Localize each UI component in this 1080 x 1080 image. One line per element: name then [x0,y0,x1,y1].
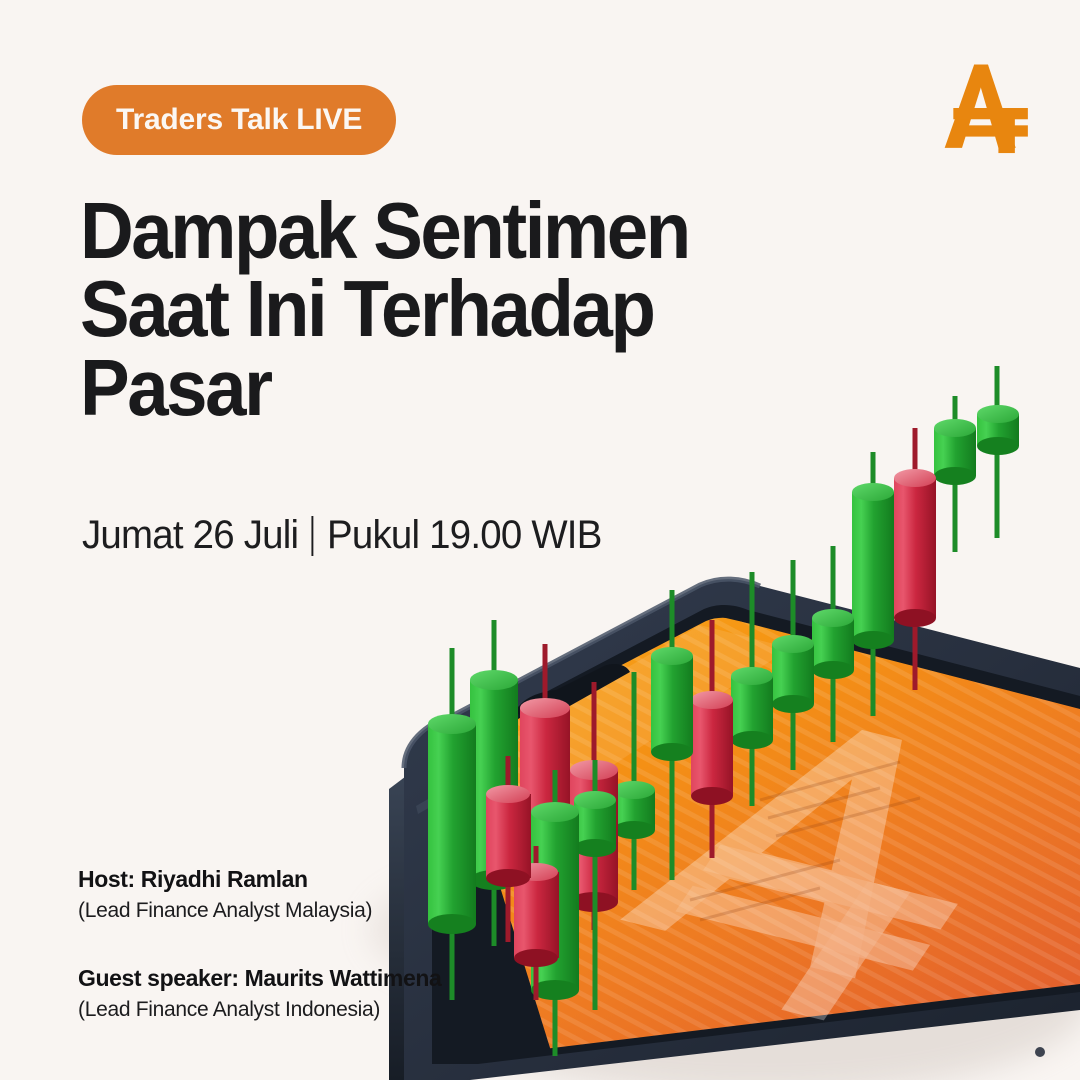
promo-poster: Traders Talk LIVE Dampak Sentimen Saat I… [0,0,1080,1080]
live-badge-label: Traders Talk LIVE [116,103,362,137]
guest-speaker-role: (Lead Finance Analyst Indonesia) [78,998,441,1022]
live-badge: Traders Talk LIVE [82,85,396,155]
host-role: (Lead Finance Analyst Malaysia) [78,899,441,923]
guest-speaker-name: Guest speaker: Maurits Wattimena [78,965,441,992]
host-name: Host: Riyadhi Ramlan [78,866,441,893]
speakers-block: Host: Riyadhi Ramlan (Lead Finance Analy… [78,866,441,1022]
event-schedule: Jumat 26 Juli Pukul 19.00 WIB [82,513,602,558]
headline-line-2: Saat Ini Terhadap [80,270,787,348]
page-title: Dampak Sentimen Saat Ini Terhadap Pasar [80,192,787,427]
event-time: Pukul 19.00 WIB [327,513,602,558]
headline-line-1: Dampak Sentimen [80,192,787,270]
schedule-separator [312,516,314,556]
speaker-spacer [78,923,441,965]
headline-line-3: Pasar [80,349,787,427]
event-date: Jumat 26 Juli [82,513,298,558]
anugrah-a-logo-icon [936,56,1040,160]
